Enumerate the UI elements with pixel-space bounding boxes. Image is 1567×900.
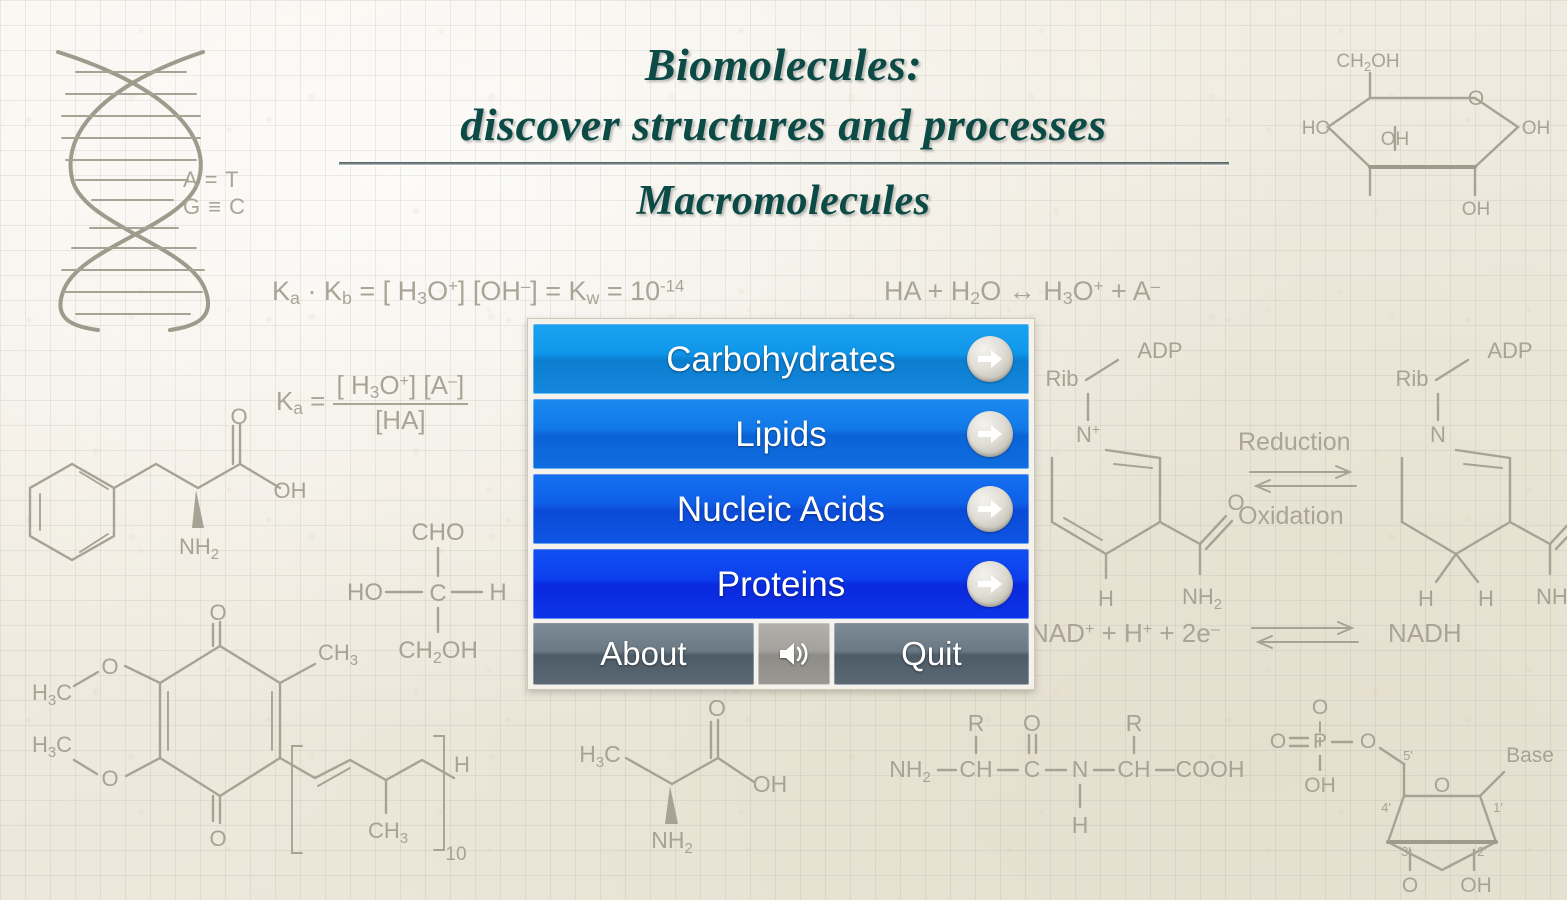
svg-text:R: R bbox=[968, 710, 985, 736]
menu-item-label: Proteins bbox=[717, 565, 845, 604]
svg-text:NH2: NH2 bbox=[1182, 584, 1222, 613]
svg-text:C: C bbox=[1024, 756, 1041, 782]
svg-text:O: O bbox=[230, 404, 247, 429]
glyceraldehyde-icon: CHO HO C H CH2OH bbox=[340, 518, 530, 663]
ka-fraction: [ H3O+] [A–] [HA] bbox=[333, 372, 469, 434]
svg-text:Base: Base bbox=[1506, 744, 1554, 767]
svg-text:1': 1' bbox=[1493, 800, 1503, 815]
equation-acid-equilibrium: HA + H2O ↔ H3O+ + A– bbox=[884, 276, 1160, 309]
menu-item-nucleic-acids[interactable]: Nucleic Acids bbox=[533, 474, 1029, 544]
svg-text:O: O bbox=[1312, 696, 1328, 719]
svg-text:CH2OH: CH2OH bbox=[398, 637, 478, 667]
glucose-pyranose-icon: CH2OH O OH HO OH OH bbox=[1300, 55, 1550, 235]
svg-text:O: O bbox=[1402, 874, 1418, 897]
menu-item-lipids[interactable]: Lipids bbox=[533, 399, 1029, 469]
glyceraldehyde-art: CHO HO C H CH2OH bbox=[340, 518, 530, 663]
quit-button[interactable]: Quit bbox=[834, 623, 1029, 685]
svg-text:O: O bbox=[101, 654, 118, 679]
alanine-art: H3C O OH NH2 bbox=[570, 700, 790, 850]
nad-plus-icon: Rib ADP N+ H O NH2 bbox=[1040, 338, 1250, 618]
svg-text:HO: HO bbox=[347, 579, 383, 606]
svg-text:COOH: COOH bbox=[1176, 756, 1245, 782]
svg-text:H: H bbox=[454, 752, 470, 777]
dna-double-helix-icon bbox=[38, 42, 238, 332]
glucose-ring-art: CH2OH O OH HO OH OH bbox=[1300, 55, 1550, 235]
svg-text:Rib: Rib bbox=[1395, 366, 1428, 391]
svg-text:4': 4' bbox=[1381, 800, 1391, 815]
speaker-volume-icon bbox=[777, 639, 811, 669]
redox-arrows-bottom-art bbox=[1250, 618, 1360, 652]
nadh-icon: Rib ADP N H H O NH2 bbox=[1390, 338, 1567, 618]
svg-text:H3C: H3C bbox=[32, 680, 72, 709]
svg-text:ADP: ADP bbox=[1487, 338, 1532, 363]
svg-text:O: O bbox=[1468, 87, 1484, 110]
svg-text:C: C bbox=[429, 580, 446, 607]
svg-text:OH: OH bbox=[1522, 118, 1551, 139]
svg-text:N+: N+ bbox=[1076, 421, 1100, 447]
svg-text:CH: CH bbox=[1117, 756, 1150, 782]
svg-text:3': 3' bbox=[1401, 844, 1411, 859]
nadh-art: Rib ADP N H H O NH2 bbox=[1390, 338, 1567, 618]
about-button[interactable]: About bbox=[533, 623, 754, 685]
title-line-1: Biomolecules: bbox=[0, 36, 1567, 94]
arrow-right-icon[interactable] bbox=[967, 411, 1013, 457]
main-menu-panel: Carbohydrates Lipids Nucleic Acids bbox=[527, 318, 1035, 690]
svg-text:OH: OH bbox=[1381, 129, 1410, 150]
nad-plus-art: Rib ADP N+ H O NH2 bbox=[1040, 338, 1250, 618]
coenzyme-q10-icon: O O O H3C O H3C CH3 CH3 H 10 bbox=[30, 628, 470, 878]
svg-text:H: H bbox=[1418, 586, 1434, 611]
reduction-label: Reduction bbox=[1238, 428, 1351, 457]
svg-text:CHO: CHO bbox=[411, 519, 464, 546]
equation-acid-dissociation-constant: Ka = [ H3O+] [A–] [HA] bbox=[276, 372, 468, 434]
svg-text:N: N bbox=[1430, 422, 1446, 447]
svg-text:H3C: H3C bbox=[32, 732, 72, 761]
svg-text:O: O bbox=[209, 826, 226, 851]
svg-text:5': 5' bbox=[1403, 748, 1413, 763]
equilibrium-arrows-icon bbox=[1248, 462, 1358, 494]
equation-ion-product-water: Ka · Kb = [ H3O+] [OH–] = Kw = 10-14 bbox=[272, 276, 684, 309]
svg-text:NH2: NH2 bbox=[1536, 584, 1567, 613]
svg-text:NH2: NH2 bbox=[651, 827, 693, 857]
svg-text:CH3: CH3 bbox=[368, 818, 408, 847]
ubiquinone-art: O O O H3C O H3C CH3 CH3 H 10 bbox=[30, 628, 470, 878]
redox-product: NADH bbox=[1388, 618, 1462, 649]
svg-text:Rib: Rib bbox=[1045, 366, 1078, 391]
oxidation-label: Oxidation bbox=[1238, 502, 1344, 531]
subtitle: Macromolecules bbox=[0, 175, 1567, 227]
alanine-icon: H3C O OH NH2 bbox=[570, 700, 790, 850]
nucleotide-art: O O P O OH 5' O 4' 1' 3' 2' Base O OH bbox=[1268, 700, 1558, 895]
svg-text:10: 10 bbox=[445, 844, 466, 865]
title-divider bbox=[339, 162, 1229, 165]
svg-text:O: O bbox=[209, 600, 226, 625]
svg-text:OH: OH bbox=[753, 771, 788, 797]
svg-text:OH: OH bbox=[1304, 774, 1336, 797]
svg-text:CH2OH: CH2OH bbox=[1336, 51, 1399, 74]
phenylalanine-icon: O OH NH2 bbox=[18, 410, 308, 580]
svg-text:H: H bbox=[1072, 812, 1089, 838]
phenylalanine-art: O OH NH2 bbox=[18, 410, 308, 580]
menu-item-label: Carbohydrates bbox=[666, 340, 896, 379]
dna-double-helix-art bbox=[38, 42, 238, 332]
menu-bottom-bar: About Quit bbox=[533, 623, 1029, 685]
menu-item-label: Nucleic Acids bbox=[677, 490, 885, 529]
svg-text:2': 2' bbox=[1477, 844, 1487, 859]
redox-arrows-art bbox=[1248, 462, 1358, 494]
svg-text:ADP: ADP bbox=[1137, 338, 1182, 363]
svg-text:H: H bbox=[1478, 586, 1494, 611]
app-root: A = T G ≡ C CH2OH O OH HO OH OH Ka · Kb … bbox=[0, 0, 1567, 900]
svg-text:NH2: NH2 bbox=[889, 756, 931, 786]
nucleotide-icon: O O P O OH 5' O 4' 1' 3' 2' Base O OH bbox=[1268, 700, 1558, 895]
title-line-2: discover structures and processes bbox=[0, 94, 1567, 156]
base-pair-gc: G ≡ C bbox=[183, 193, 246, 220]
svg-text:OH: OH bbox=[1460, 874, 1492, 897]
page-title: Biomolecules: discover structures and pr… bbox=[0, 36, 1567, 227]
svg-text:O: O bbox=[101, 766, 118, 791]
svg-text:O: O bbox=[1270, 730, 1286, 753]
svg-text:CH: CH bbox=[959, 756, 992, 782]
svg-text:R: R bbox=[1126, 710, 1143, 736]
menu-item-label: Lipids bbox=[735, 415, 826, 454]
svg-text:HO: HO bbox=[1302, 118, 1331, 139]
peptide-bond-art: NH2 CH R C O N H CH R COOH bbox=[880, 715, 1240, 845]
dipeptide-icon: NH2 CH R C O N H CH R COOH bbox=[880, 715, 1240, 845]
menu-item-proteins[interactable]: Proteins bbox=[533, 549, 1029, 619]
svg-text:H: H bbox=[489, 579, 506, 606]
svg-text:O: O bbox=[1023, 710, 1041, 736]
svg-text:OH: OH bbox=[274, 478, 307, 503]
base-pair-at: A = T bbox=[183, 166, 246, 193]
svg-text:O: O bbox=[708, 695, 726, 721]
arrow-right-icon[interactable] bbox=[967, 561, 1013, 607]
redox-reactants: NAD+ + H+ + 2e– bbox=[1030, 618, 1220, 649]
svg-text:CH3: CH3 bbox=[318, 640, 358, 669]
svg-text:OH: OH bbox=[1462, 199, 1491, 220]
equilibrium-arrows-icon bbox=[1250, 618, 1360, 652]
dna-base-pair-labels: A = T G ≡ C bbox=[183, 166, 246, 220]
sound-toggle-button[interactable] bbox=[758, 623, 830, 685]
svg-text:O: O bbox=[1360, 730, 1376, 753]
svg-text:O: O bbox=[1434, 774, 1450, 797]
menu-item-carbohydrates[interactable]: Carbohydrates bbox=[533, 324, 1029, 394]
svg-text:P: P bbox=[1313, 730, 1327, 753]
arrow-right-icon[interactable] bbox=[967, 336, 1013, 382]
svg-text:H: H bbox=[1098, 586, 1114, 611]
svg-text:NH2: NH2 bbox=[179, 534, 219, 563]
svg-text:H3C: H3C bbox=[579, 741, 621, 771]
svg-text:N: N bbox=[1072, 756, 1089, 782]
svg-text:O: O bbox=[1227, 490, 1244, 515]
arrow-right-icon[interactable] bbox=[967, 486, 1013, 532]
